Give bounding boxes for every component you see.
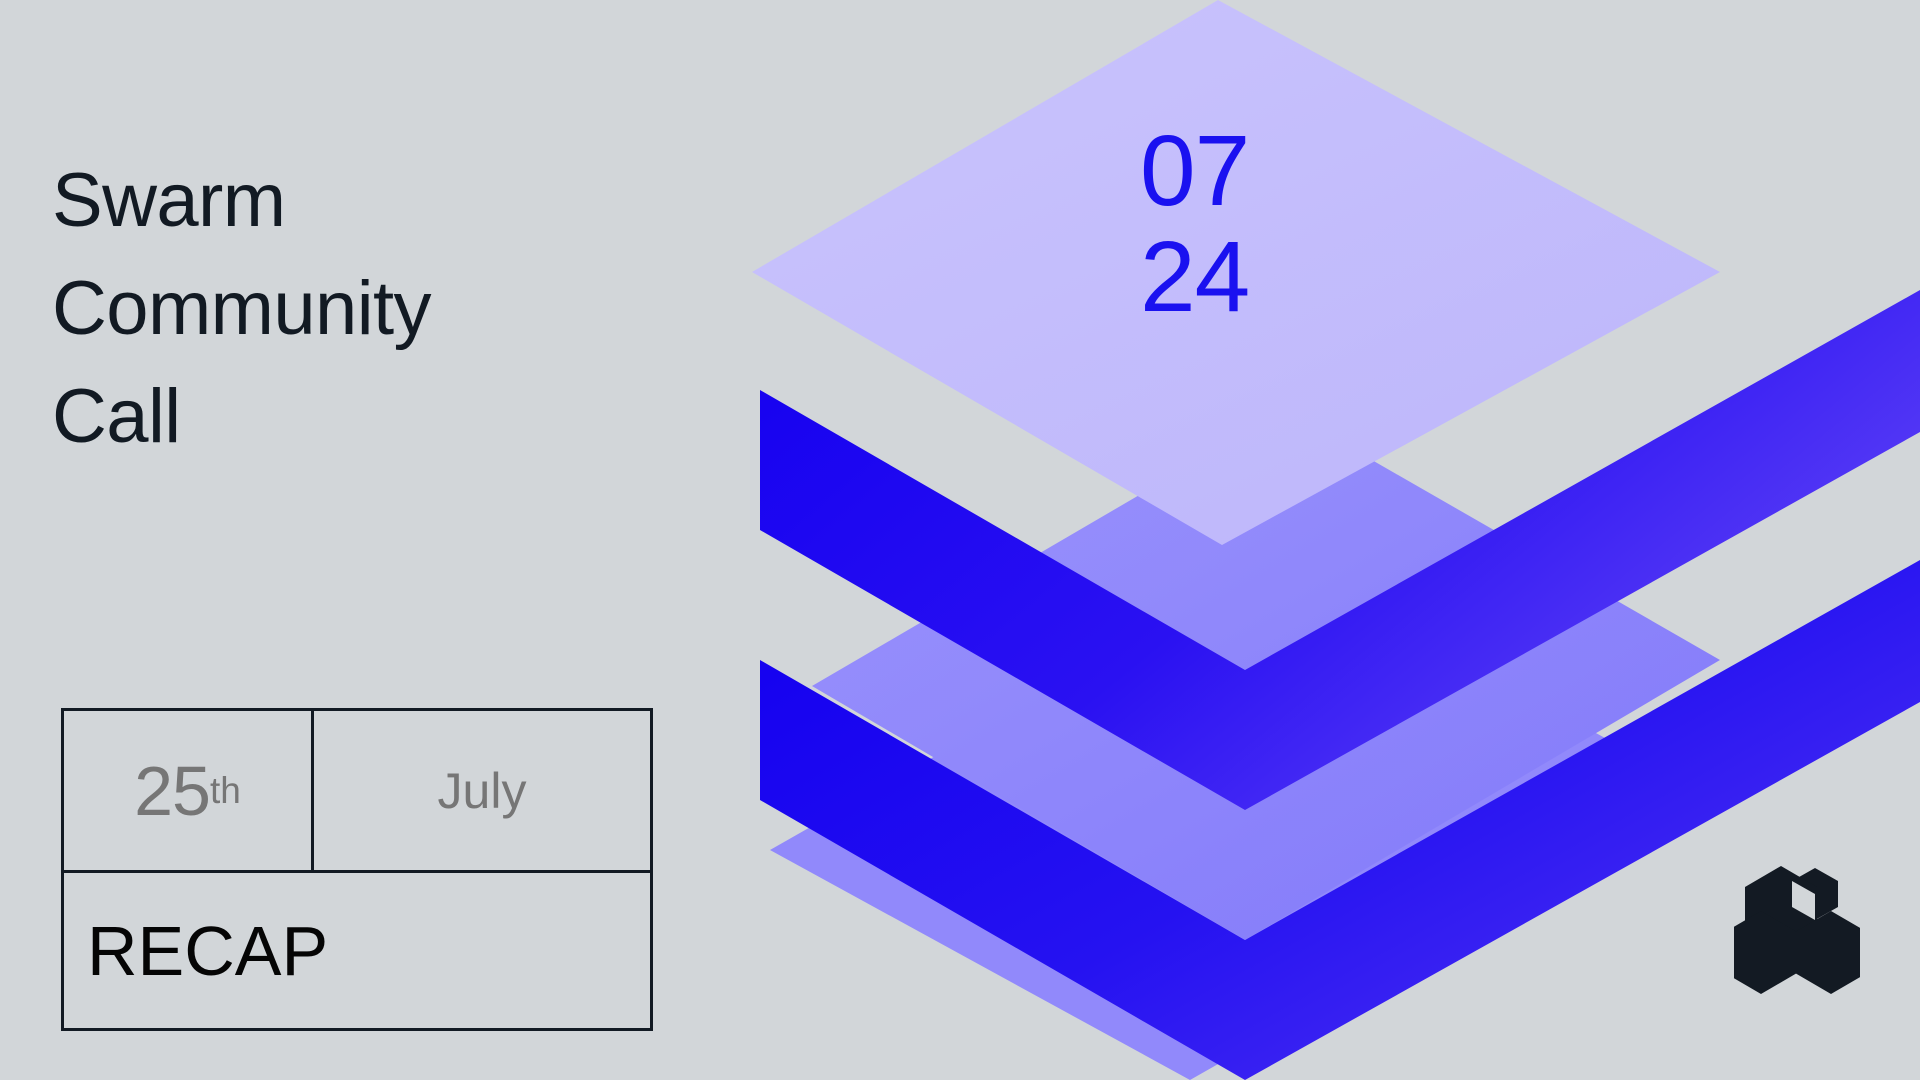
- day-number: 25: [134, 756, 210, 826]
- date-row: 25th July: [64, 711, 650, 873]
- chevron-layer-5-periwinkle: [770, 560, 1700, 1080]
- recap-row: RECAP: [64, 873, 650, 1028]
- page-title: Swarm Community Call: [52, 147, 712, 471]
- month-label: July: [438, 766, 527, 816]
- month-cell: July: [314, 711, 650, 870]
- day-ordinal-suffix: th: [210, 772, 241, 809]
- chevron-layer-3-periwinkle: [812, 410, 1720, 940]
- poster-canvas: Swarm Community Call 07 24 25th July REC…: [0, 0, 1920, 1080]
- date-card: 25th July RECAP: [61, 708, 653, 1031]
- chevron-layer-4-deepblue: [760, 560, 1920, 1080]
- date-stamp: 07 24: [1140, 118, 1249, 330]
- day-cell: 25th: [64, 711, 314, 870]
- chevron-layer-2-deepblue: [760, 290, 1920, 810]
- recap-label: RECAP: [64, 916, 328, 986]
- swarm-bee-logo-icon: [1734, 866, 1860, 996]
